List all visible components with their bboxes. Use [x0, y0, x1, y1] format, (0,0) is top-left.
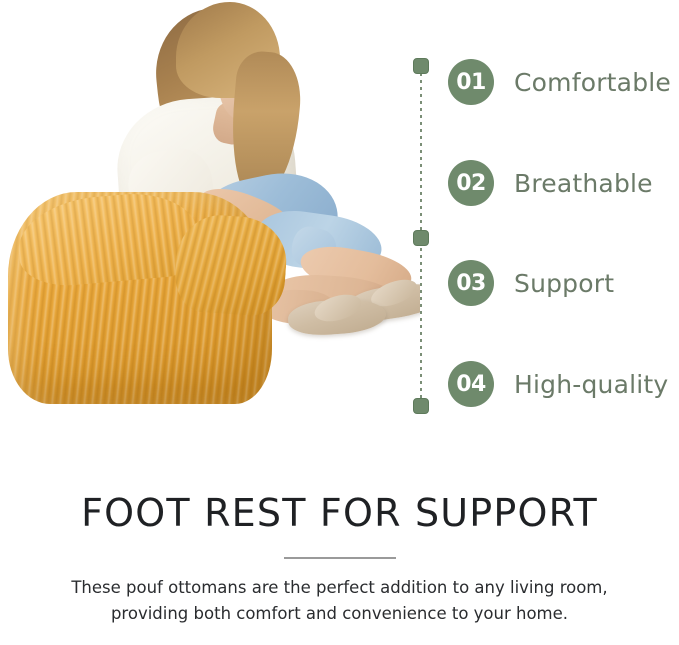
subcopy-line-2: providing both comfort and convenience t…	[0, 601, 679, 627]
feature-badge-03: 03	[448, 260, 494, 306]
feature-item-comfortable: 01 Comfortable	[448, 59, 671, 105]
feature-badge-02: 02	[448, 160, 494, 206]
feature-item-high-quality: 04 High-quality	[448, 361, 668, 407]
feature-badge-01: 01	[448, 59, 494, 105]
subcopy: These pouf ottomans are the perfect addi…	[0, 575, 679, 627]
feature-label-01: Comfortable	[514, 68, 671, 97]
feature-label-02: Breathable	[514, 169, 653, 198]
subcopy-line-1: These pouf ottomans are the perfect addi…	[0, 575, 679, 601]
timeline-marker-1	[413, 58, 429, 74]
timeline-marker-3	[413, 398, 429, 414]
product-lifestyle-photo	[0, 0, 420, 462]
bottom-text-section: FOOT REST FOR SUPPORT These pouf ottoman…	[0, 462, 679, 645]
timeline-marker-2	[413, 230, 429, 246]
feature-list: 01 Comfortable 02 Breathable 03 Support …	[408, 50, 679, 420]
hero-section: 01 Comfortable 02 Breathable 03 Support …	[0, 0, 679, 462]
divider-rule	[284, 557, 396, 559]
headline: FOOT REST FOR SUPPORT	[0, 491, 679, 535]
feature-item-breathable: 02 Breathable	[448, 160, 653, 206]
feature-label-03: Support	[514, 269, 614, 298]
feature-item-support: 03 Support	[448, 260, 614, 306]
feature-label-04: High-quality	[514, 370, 668, 399]
feature-badge-04: 04	[448, 361, 494, 407]
product-marketing-image: 01 Comfortable 02 Breathable 03 Support …	[0, 0, 679, 645]
